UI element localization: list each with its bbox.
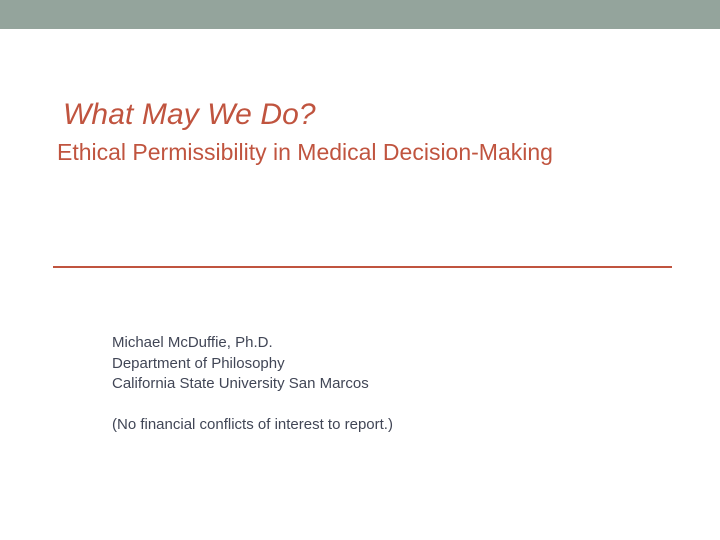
slide-subtitle: Ethical Permissibility in Medical Decisi…	[56, 138, 676, 166]
author-affiliation-block: Michael McDuffie, Ph.D. Department of Ph…	[112, 333, 632, 436]
author-name-line: Michael McDuffie, Ph.D.	[112, 333, 632, 354]
financial-disclosure-line: (No financial conflicts of interest to r…	[112, 415, 632, 436]
slide-title: What May We Do?	[56, 96, 676, 134]
block-spacer	[112, 395, 632, 416]
presentation-slide: What May We Do? Ethical Permissibility i…	[0, 0, 720, 540]
author-department-line: Department of Philosophy	[112, 354, 632, 375]
title-block: What May We Do? Ethical Permissibility i…	[56, 96, 676, 166]
top-decorative-band	[0, 0, 720, 29]
horizontal-divider-rule	[53, 266, 672, 268]
author-institution-line: California State University San Marcos	[112, 374, 632, 395]
